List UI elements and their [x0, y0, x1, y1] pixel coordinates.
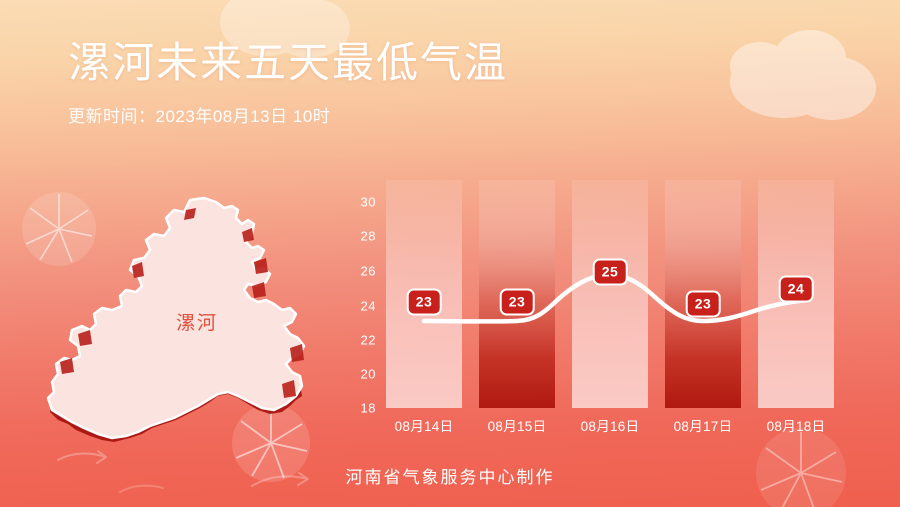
y-tick-label: 24: [361, 299, 376, 314]
x-tick-label: 08月17日: [674, 415, 733, 435]
map-region-label: 漯河: [176, 308, 218, 335]
value-badge: 23: [500, 289, 535, 316]
y-tick-label: 20: [361, 367, 376, 382]
y-tick-label: 28: [361, 229, 376, 244]
footer-credit: 河南省气象服务中心制作: [0, 463, 900, 488]
x-tick-label: 08月16日: [581, 415, 640, 435]
header: 漯河未来五天最低气温 更新时间：2023年08月13日 10时: [68, 38, 508, 127]
x-tick-label: 08月14日: [395, 415, 454, 435]
value-badge: 23: [407, 289, 442, 316]
y-tick-label: 30: [361, 195, 376, 210]
value-badge: 25: [593, 259, 628, 286]
value-badge: 24: [779, 276, 814, 303]
y-tick-label: 22: [361, 333, 376, 348]
region-map: [38, 158, 348, 450]
x-tick-label: 08月15日: [488, 415, 547, 435]
y-axis: 30 28 26 24 22 20 18: [344, 176, 376, 426]
y-tick-label: 18: [361, 401, 376, 416]
y-tick-label: 26: [361, 264, 376, 279]
page-title: 漯河未来五天最低气温: [68, 38, 508, 88]
temperature-chart: 30 28 26 24 22 20 18 23 23 25 23 24 08月1…: [344, 176, 864, 426]
x-tick-label: 08月18日: [767, 415, 826, 435]
value-badge: 23: [686, 291, 721, 318]
update-time: 更新时间：2023年08月13日 10时: [68, 102, 508, 127]
cloud-icon-top-right: [726, 18, 896, 128]
weather-infographic: 漯河未来五天最低气温 更新时间：2023年08月13日 10时 漯河: [0, 0, 900, 507]
